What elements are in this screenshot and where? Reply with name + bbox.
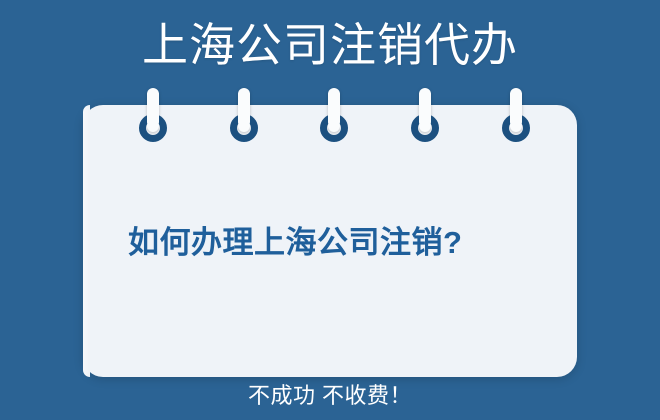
binder-ring-post-front-icon — [419, 106, 431, 128]
page-title: 上海公司注销代办 — [0, 14, 660, 76]
poster-canvas: 上海公司注销代办 如何办理上海公司注销? 不成功 不收费！ — [0, 0, 660, 420]
binder-ring-post-front-icon — [328, 106, 340, 128]
binder-ring-4 — [416, 88, 434, 146]
binder-ring-post-front-icon — [510, 106, 522, 128]
footer-slogan: 不成功 不收费！ — [0, 381, 660, 411]
binder-ring-1 — [144, 88, 162, 146]
binder-ring-post-front-icon — [147, 106, 159, 128]
binder-ring-post-front-icon — [238, 106, 250, 128]
card-heading: 如何办理上海公司注销? — [128, 217, 548, 262]
card-left-binding-strip — [83, 105, 90, 377]
binder-ring-3 — [325, 88, 343, 146]
binder-ring-2 — [235, 88, 253, 146]
binder-ring-5 — [507, 88, 525, 146]
